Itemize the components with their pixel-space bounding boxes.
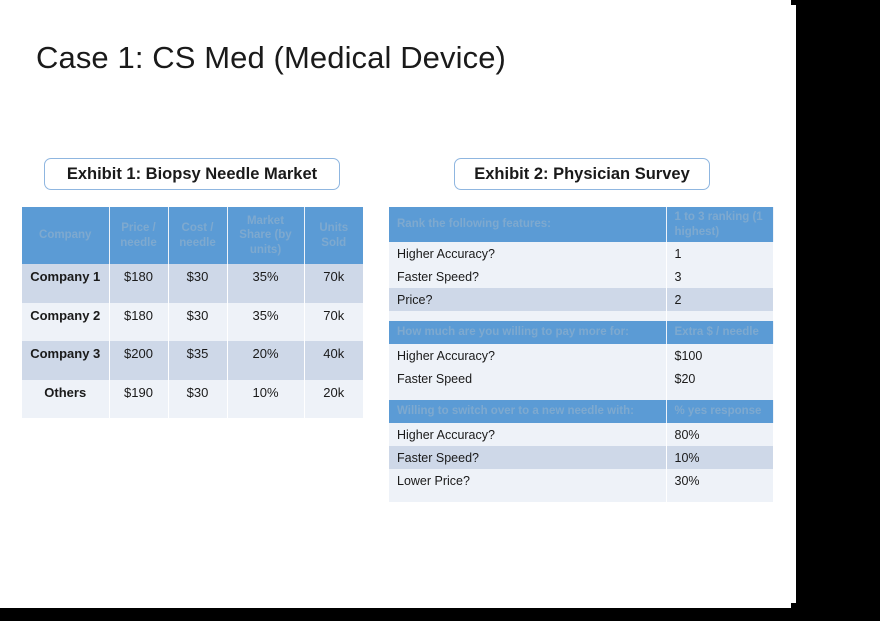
- cell-company: Others: [22, 380, 109, 406]
- section-header-value: Extra $ / needle: [666, 321, 773, 344]
- cell-value: 30%: [666, 469, 773, 492]
- table-row: Company 2 $180 $30 35% 70k: [22, 303, 363, 329]
- cell-question: Faster Speed?: [389, 446, 666, 469]
- cell-market-share: 35%: [227, 264, 304, 290]
- cell-cost: $30: [168, 380, 227, 406]
- cell-units-sold: 40k: [304, 341, 363, 367]
- table-row: Price? 2: [389, 288, 773, 311]
- table-row: Faster Speed $20: [389, 367, 773, 390]
- cell-price: $180: [109, 264, 168, 290]
- cell-price: $200: [109, 341, 168, 367]
- cell-value: $100: [666, 344, 773, 367]
- cell-units-sold: 70k: [304, 264, 363, 290]
- row-spacer: [22, 405, 363, 418]
- row-spacer: [22, 367, 363, 380]
- slide-canvas: Case 1: CS Med (Medical Device) Exhibit …: [0, 0, 796, 608]
- table-row: Company 1 $180 $30 35% 70k: [22, 264, 363, 290]
- column-header-company: Company: [22, 207, 109, 264]
- row-spacer: [389, 492, 773, 502]
- cell-question: Higher Accuracy?: [389, 344, 666, 367]
- cell-value: 80%: [666, 423, 773, 446]
- table-row: Company 3 $200 $35 20% 40k: [22, 341, 363, 367]
- cell-question: Higher Accuracy?: [389, 423, 666, 446]
- cell-company: Company 2: [22, 303, 109, 329]
- table-row: Others $190 $30 10% 20k: [22, 380, 363, 406]
- cell-market-share: 20%: [227, 341, 304, 367]
- table-header-row: Company Price / needle Cost / needle Mar…: [22, 207, 363, 264]
- cell-units-sold: 20k: [304, 380, 363, 406]
- cell-question: Faster Speed: [389, 367, 666, 390]
- frame-corner-notch: [791, 0, 796, 5]
- biopsy-needle-market-table: Company Price / needle Cost / needle Mar…: [22, 207, 364, 418]
- column-header-price: Price / needle: [109, 207, 168, 264]
- cell-value: $20: [666, 367, 773, 390]
- cell-market-share: 10%: [227, 380, 304, 406]
- page-title: Case 1: CS Med (Medical Device): [36, 40, 506, 76]
- cell-value: 2: [666, 288, 773, 311]
- row-spacer: [389, 390, 773, 400]
- section-header-willing-to-switch: Willing to switch over to a new needle w…: [389, 400, 773, 423]
- cell-value: 3: [666, 265, 773, 288]
- cell-market-share: 35%: [227, 303, 304, 329]
- cell-question: Faster Speed?: [389, 265, 666, 288]
- row-spacer: [389, 311, 773, 321]
- table-row: Higher Accuracy? 80%: [389, 423, 773, 446]
- section-header-value: % yes response: [666, 400, 773, 423]
- cell-question: Price?: [389, 288, 666, 311]
- cell-company: Company 1: [22, 264, 109, 290]
- section-header-value: 1 to 3 ranking (1 highest): [666, 207, 773, 242]
- cell-units-sold: 70k: [304, 303, 363, 329]
- row-spacer: [22, 290, 363, 303]
- table-row: Faster Speed? 10%: [389, 446, 773, 469]
- exhibit-1-label: Exhibit 1: Biopsy Needle Market: [44, 158, 340, 190]
- table-row: Higher Accuracy? 1: [389, 242, 773, 265]
- section-header-question: Willing to switch over to a new needle w…: [389, 400, 666, 423]
- exhibit-2-label: Exhibit 2: Physician Survey: [454, 158, 710, 190]
- column-header-market-share: Market Share (by units): [227, 207, 304, 264]
- cell-question: Lower Price?: [389, 469, 666, 492]
- cell-price: $180: [109, 303, 168, 329]
- cell-value: 10%: [666, 446, 773, 469]
- section-header-question: Rank the following features:: [389, 207, 666, 242]
- cell-value: 1: [666, 242, 773, 265]
- table-row: Lower Price? 30%: [389, 469, 773, 492]
- cell-price: $190: [109, 380, 168, 406]
- cell-cost: $30: [168, 264, 227, 290]
- cell-company: Company 3: [22, 341, 109, 367]
- column-header-cost: Cost / needle: [168, 207, 227, 264]
- table-row: Faster Speed? 3: [389, 265, 773, 288]
- section-header-rank-features: Rank the following features: 1 to 3 rank…: [389, 207, 773, 242]
- table-row: Higher Accuracy? $100: [389, 344, 773, 367]
- section-header-willing-to-pay: How much are you willing to pay more for…: [389, 321, 773, 344]
- cell-question: Higher Accuracy?: [389, 242, 666, 265]
- frame-corner-notch-bottom: [791, 603, 796, 608]
- column-header-units-sold: Units Sold: [304, 207, 363, 264]
- cell-cost: $35: [168, 341, 227, 367]
- row-spacer: [22, 328, 363, 341]
- cell-cost: $30: [168, 303, 227, 329]
- slide-frame: Case 1: CS Med (Medical Device) Exhibit …: [0, 0, 880, 621]
- section-header-question: How much are you willing to pay more for…: [389, 321, 666, 344]
- physician-survey-table: Rank the following features: 1 to 3 rank…: [389, 207, 774, 502]
